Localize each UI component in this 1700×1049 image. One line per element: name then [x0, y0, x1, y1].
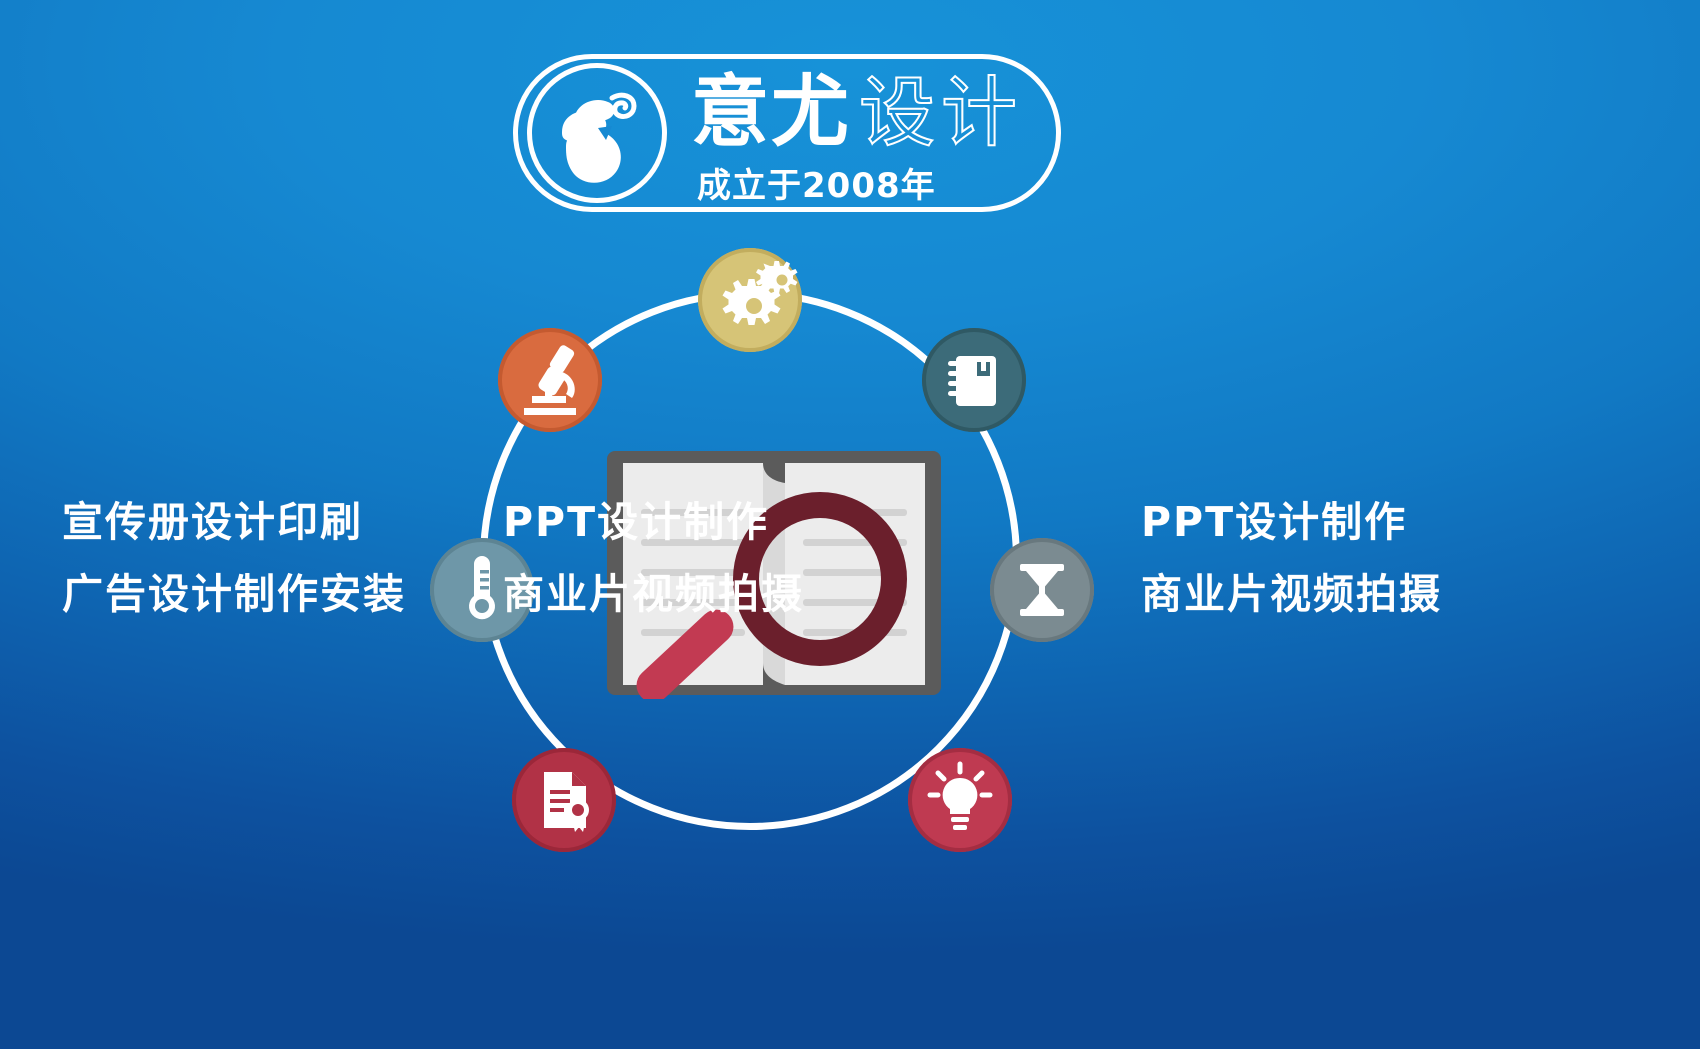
gears-icon [698, 248, 802, 352]
copy-block-left: 宣传册设计印刷 广告设计制作安装 [62, 486, 406, 630]
logo-brand-bold: 意尤 [691, 68, 851, 158]
logo-emblem-badge [527, 63, 667, 203]
copy-left-line-2: 广告设计制作安装 [62, 558, 406, 630]
logo-tagline: 成立于2008年 [697, 158, 936, 207]
copy-block-center: PPT设计制作 商业片视频拍摄 [503, 486, 804, 630]
brand-logo: 意尤设计 成立于2008年 [513, 54, 1061, 212]
ring-node-microscope[interactable] [498, 328, 602, 432]
logo-brand-thin: 设计 [859, 68, 1023, 157]
hourglass-icon [990, 538, 1094, 642]
microscope-icon [498, 328, 602, 432]
copy-right-line-1: PPT设计制作 [1141, 486, 1442, 558]
logo-wordmark: 意尤设计 [691, 66, 1051, 158]
poster-canvas: 意尤设计 成立于2008年 [0, 0, 1700, 1049]
lightbulb-icon [908, 748, 1012, 852]
copy-center-line-1: PPT设计制作 [503, 486, 804, 558]
ring-node-certificate[interactable] [512, 748, 616, 852]
ring-node-hourglass[interactable] [990, 538, 1094, 642]
copy-right-line-2: 商业片视频拍摄 [1141, 558, 1442, 630]
copy-left-line-1: 宣传册设计印刷 [62, 486, 406, 558]
copy-center-line-2: 商业片视频拍摄 [503, 558, 804, 630]
copy-block-right: PPT设计制作 商业片视频拍摄 [1141, 486, 1442, 630]
bird-leaf-emblem-icon [554, 88, 650, 188]
ring-node-gear[interactable] [698, 248, 802, 352]
certificate-icon [512, 748, 616, 852]
notebook-icon [922, 328, 1026, 432]
ring-node-lightbulb[interactable] [908, 748, 1012, 852]
ring-node-notebook[interactable] [922, 328, 1026, 432]
